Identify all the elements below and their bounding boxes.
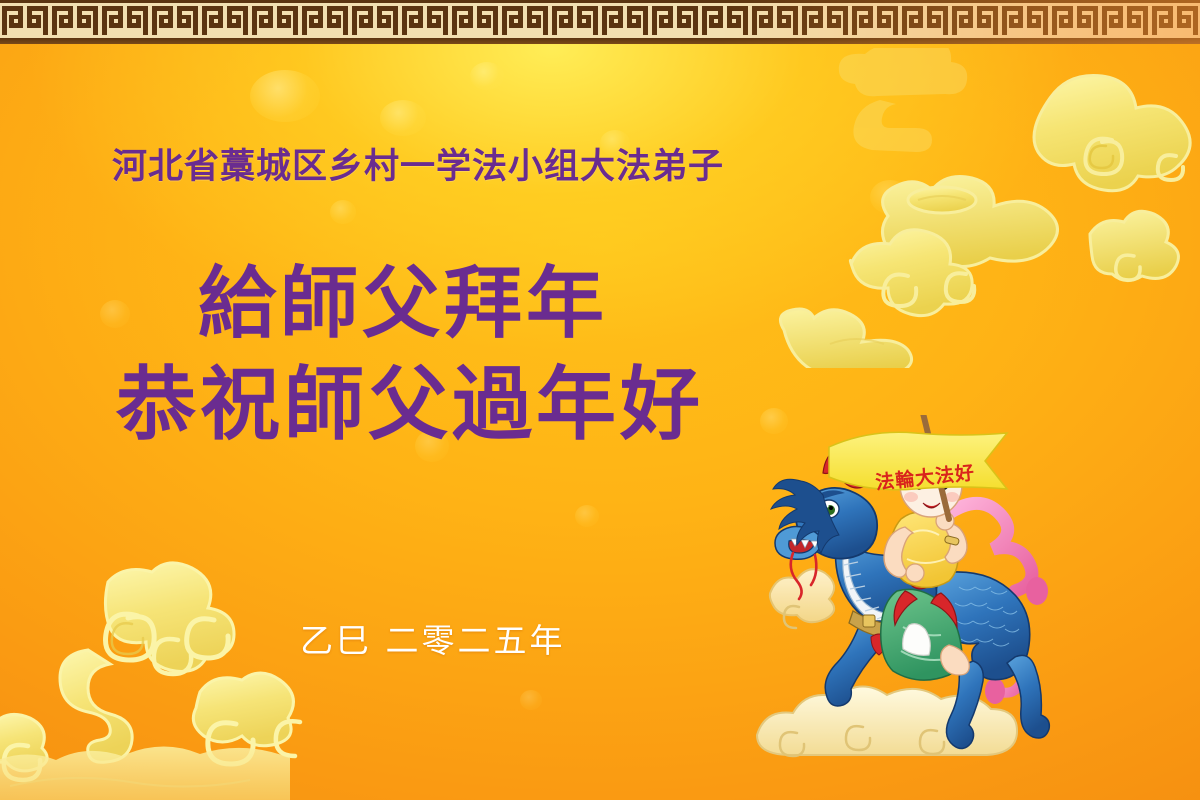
bokeh-light	[380, 100, 426, 136]
child-hand	[906, 564, 924, 582]
meander-pattern-icon	[0, 3, 1200, 38]
organization-line: 河北省藁城区乡村一学法小组大法弟子	[112, 138, 724, 189]
date-line: 乙巳 二零二五年	[300, 614, 566, 662]
bokeh-light	[250, 70, 320, 122]
child-riding-dragon: 法輪大法好	[745, 415, 1085, 775]
bokeh-light	[205, 680, 231, 704]
greeting-block: 給師父拜年 恭祝師父過年好	[116, 265, 816, 445]
greeting-line-2: 恭祝師父過年好	[116, 365, 816, 445]
greeting-line-1: 給師父拜年	[198, 265, 816, 343]
new-year-greeting-card: 河北省藁城区乡村一学法小组大法弟子 給師父拜年 恭祝師父過年好 乙巳 二零二五年	[0, 0, 1200, 800]
auspicious-cloud	[0, 560, 320, 800]
yellow-pennant-flag	[823, 425, 1013, 515]
bokeh-light	[330, 200, 356, 224]
bokeh-light	[470, 62, 504, 90]
border-bottom-rule	[0, 38, 1200, 44]
border-top-rule	[0, 0, 1200, 3]
greek-key-meander-border	[0, 0, 1200, 44]
bokeh-light	[520, 690, 542, 710]
bokeh-light	[575, 505, 599, 527]
auspicious-cloud	[760, 48, 1200, 368]
bokeh-light	[870, 180, 910, 214]
